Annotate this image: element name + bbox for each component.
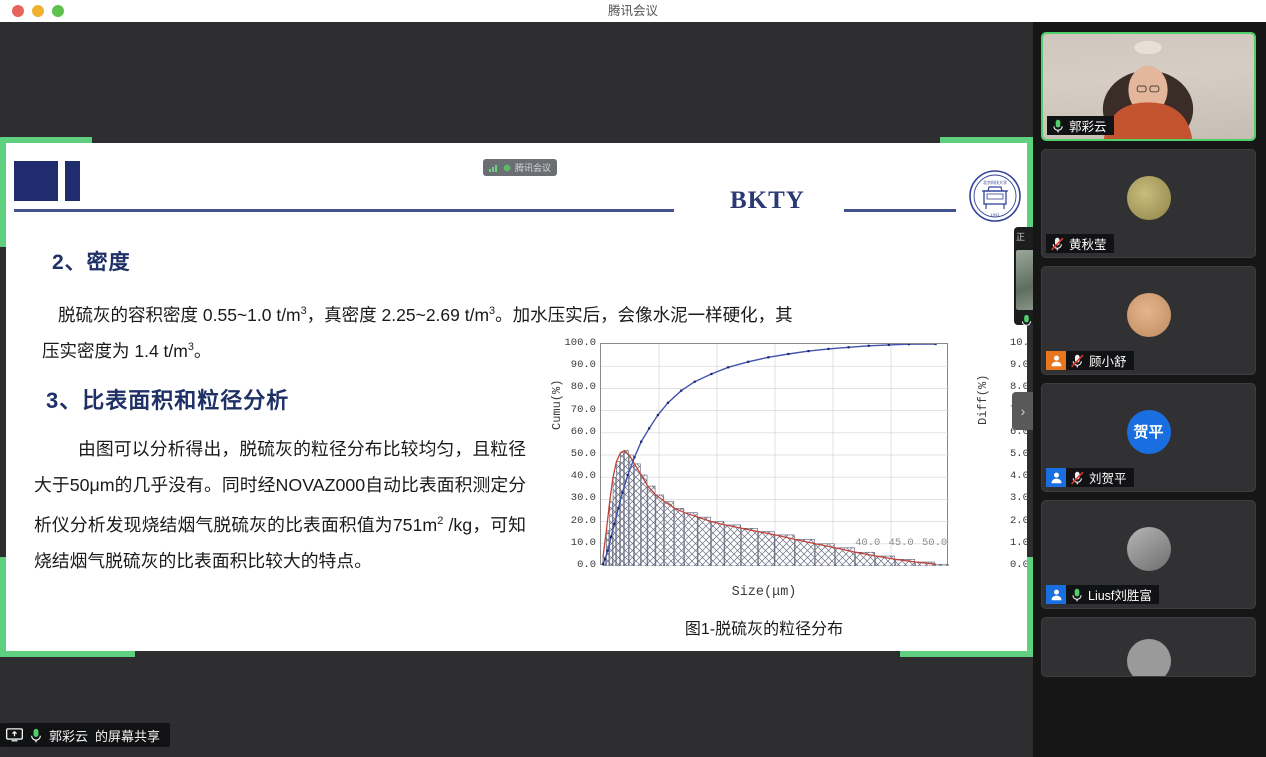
p2b-text-a: 压实密度为 1.4 t/m	[42, 341, 188, 361]
chart-y2-tick: 1.0	[1010, 537, 1027, 549]
participant-name: 郭彩云	[1069, 116, 1107, 135]
chart-canvas	[600, 343, 948, 565]
p2-text-b: ，真密度 2.25~2.69 t/m	[307, 305, 489, 325]
participant-sidebar[interactable]: 郭彩云 黄秋莹 顾小舒 贺平 刘贺平	[1033, 22, 1266, 757]
participant-name-row: 顾小舒	[1046, 351, 1134, 370]
chart-y2-tick: 2.0	[1010, 515, 1027, 527]
slide-brand-bkty: BKTY	[730, 187, 805, 215]
chart-y2-tick: 3.0	[1010, 492, 1027, 504]
mic-off-icon	[1051, 237, 1064, 251]
window-titlebar: 腾讯会议	[0, 0, 1266, 22]
chart-y2-tick: 0.0	[1010, 559, 1027, 571]
p2b-text-b: 。	[194, 341, 212, 361]
self-view-mic-on-icon[interactable]	[1021, 314, 1032, 333]
self-view-video	[1016, 250, 1033, 310]
slide-heading-2: 2、密度	[52, 246, 131, 276]
share-mic-on-icon	[30, 728, 42, 743]
mic-on-icon	[1052, 119, 1064, 133]
chart-y-tick: 60.0	[571, 426, 596, 438]
participant-name-row: 黄秋莹	[1046, 234, 1114, 253]
avatar	[1127, 176, 1171, 220]
participant-nametag: 郭彩云	[1047, 116, 1114, 135]
mic-off-icon	[1071, 354, 1084, 368]
p2-text-c: 。加水压实后，会像水泥一样硬化，其	[495, 305, 793, 325]
chart-y2-axis-label: Diff(%)	[976, 375, 990, 425]
header-rule-left	[14, 209, 674, 212]
slide-heading-3: 3、比表面积和粒径分析	[46, 383, 289, 415]
participant-nametag: Liusf刘胜富	[1066, 585, 1159, 604]
screen-share-status-bar: 郭彩云 的屏幕共享	[0, 723, 170, 747]
avatar: 贺平	[1127, 410, 1171, 454]
avatar	[1127, 639, 1171, 677]
participant-tile[interactable]: 贺平 刘贺平	[1041, 383, 1256, 492]
chart-x-tick: 50.0	[922, 537, 947, 549]
p2-text-a: 脱硫灰的容积密度 0.55~1.0 t/m	[58, 305, 301, 325]
share-presenter-name: 郭彩云	[49, 726, 88, 745]
window-title: 腾讯会议	[0, 0, 1266, 22]
record-icon	[503, 164, 511, 172]
participant-name: 顾小舒	[1089, 351, 1127, 370]
mic-on-icon	[1071, 588, 1083, 602]
chart-x-tick: 45.0	[889, 537, 914, 549]
participant-name: 刘贺平	[1089, 468, 1127, 487]
slide-paragraph-2-line1: 脱硫灰的容积密度 0.55~1.0 t/m3，真密度 2.25~2.69 t/m…	[58, 293, 793, 333]
share-status-suffix: 的屏幕共享	[95, 726, 160, 745]
participant-tile[interactable]	[1041, 617, 1256, 677]
tencent-meeting-window: 腾讯会议 BKTY 北京科技大学 1	[0, 0, 1266, 757]
chart-y-tick: 70.0	[571, 404, 596, 416]
chart-y-tick: 0.0	[577, 559, 596, 571]
chart-y2-tick: 9.0	[1010, 359, 1027, 371]
participant-role-badge	[1046, 585, 1066, 604]
slide-paragraph-3: 由图可以分析得出，脱硫灰的粒径分布比较均匀，且粒径大于50μm的几乎没有。同时经…	[34, 431, 526, 579]
slide-paragraph-2-line2: 压实密度为 1.4 t/m3。	[42, 329, 211, 369]
chart-y2-tick: 5.0	[1010, 448, 1027, 460]
chart-y-tick: 30.0	[571, 492, 596, 504]
participant-tile[interactable]: 郭彩云	[1041, 32, 1256, 141]
participant-tile[interactable]: Liusf刘胜富	[1041, 500, 1256, 609]
avatar	[1127, 527, 1171, 571]
participant-role-badge	[1046, 351, 1066, 370]
slide-logo-mark	[14, 161, 80, 201]
chart-y-tick: 20.0	[571, 515, 596, 527]
shared-screen-stage: BKTY 北京科技大学 1952 2、密度 脱硫灰的容积密度 0.55~1.0 …	[0, 22, 1033, 757]
presentation-slide: BKTY 北京科技大学 1952 2、密度 脱硫灰的容积密度 0.55~1.0 …	[6, 143, 1027, 651]
floating-meeting-pill[interactable]: 腾讯会议	[483, 159, 557, 176]
chart-plot-area: 0.010.020.030.040.050.060.070.080.090.01…	[600, 343, 948, 565]
participant-name-row: 刘贺平	[1046, 468, 1134, 487]
chart-y-tick: 100.0	[564, 337, 596, 349]
chart-y-tick: 40.0	[571, 470, 596, 482]
particle-size-distribution-chart: 0.010.020.030.040.050.060.070.080.090.01…	[544, 335, 984, 645]
avatar	[1127, 293, 1171, 337]
person-icon	[1050, 471, 1063, 484]
university-seal-icon: 北京科技大学 1952	[968, 169, 1022, 223]
figure-caption: 图1-脱硫灰的粒径分布	[544, 615, 984, 639]
person-icon	[1050, 588, 1063, 601]
participant-role-badge	[1046, 468, 1066, 487]
screen-share-icon	[6, 728, 23, 742]
chart-y-tick: 80.0	[571, 381, 596, 393]
participant-name: 黄秋莹	[1069, 234, 1107, 253]
header-rule-right	[844, 209, 956, 212]
participant-nametag: 刘贺平	[1066, 468, 1134, 487]
svg-text:1952: 1952	[990, 213, 999, 217]
chart-y-axis-label: Cumu(%)	[550, 380, 564, 430]
self-view-label: 正	[1016, 230, 1025, 243]
chart-y-tick: 90.0	[571, 359, 596, 371]
chart-y-tick: 50.0	[571, 448, 596, 460]
participant-tile[interactable]: 顾小舒	[1041, 266, 1256, 375]
chart-y-tick: 10.0	[571, 537, 596, 549]
participant-name-row: Liusf刘胜富	[1046, 585, 1159, 604]
mic-off-icon	[1071, 471, 1084, 485]
chart-svg	[601, 344, 949, 566]
participant-nametag: 黄秋莹	[1046, 234, 1114, 253]
participant-nametag: 顾小舒	[1066, 351, 1134, 370]
chart-y2-tick: 4.0	[1010, 470, 1027, 482]
chart-x-tick: 40.0	[855, 537, 880, 549]
avatar-initials: 贺平	[1127, 410, 1171, 454]
chart-y2-tick: 10.0	[1010, 337, 1027, 349]
signal-icon	[489, 164, 499, 172]
floating-pill-label: 腾讯会议	[515, 161, 551, 174]
participant-tile[interactable]: 黄秋莹	[1041, 149, 1256, 258]
chart-x-axis-label: Size(μm)	[544, 585, 984, 600]
participant-name: Liusf刘胜富	[1088, 585, 1152, 604]
expand-panel-button[interactable]: ›	[1012, 392, 1033, 430]
participant-name-row: 郭彩云	[1047, 116, 1114, 135]
person-icon	[1050, 354, 1063, 367]
svg-text:北京科技大学: 北京科技大学	[983, 179, 1007, 185]
